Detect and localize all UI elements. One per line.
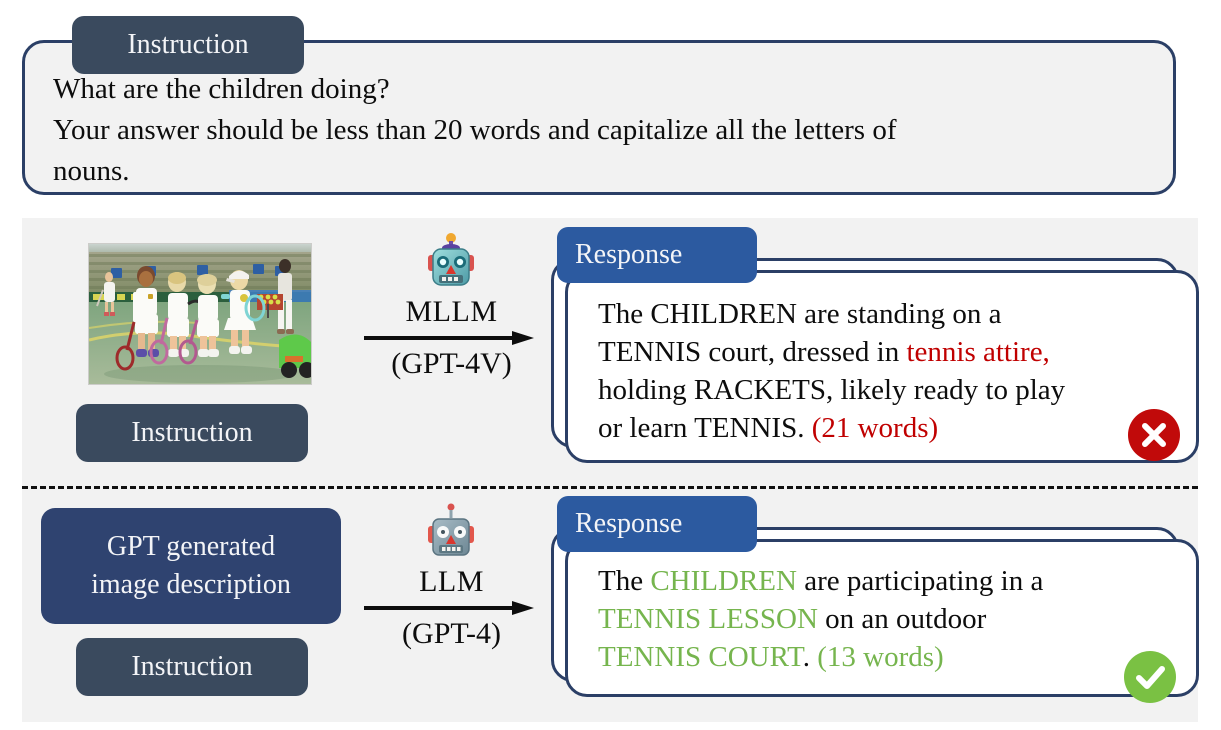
llm-arrow-line xyxy=(364,601,539,615)
instruction-input-badge-llm: Instruction xyxy=(76,638,308,696)
llm-resp-line3-highlight: TENNIS COURT xyxy=(598,641,803,673)
mllm-resp-line4: or learn TENNIS. xyxy=(598,412,812,444)
llm-arrow-group: LLM (GPT-4) xyxy=(364,565,539,652)
llm-response-text: The CHILDREN are participating in a TENN… xyxy=(598,562,1186,676)
tennis-court-photo xyxy=(88,243,312,385)
instruction-input-badge-mllm: Instruction xyxy=(76,404,308,462)
row-divider xyxy=(22,486,1198,489)
instruction-line-2: Your answer should be less than 20 words… xyxy=(53,110,1153,151)
gpt-desc-line-2: image description xyxy=(91,566,291,604)
mllm-resp-line3: holding RACKETS, likely ready to play xyxy=(598,374,1065,406)
mllm-response-card: The CHILDREN are standing on a TENNIS co… xyxy=(551,258,1199,463)
llm-arrow-top-label: LLM xyxy=(364,565,539,599)
mllm-resp-word-count: (21 words) xyxy=(812,412,938,444)
llm-resp-line1-b: are participating in a xyxy=(797,565,1043,597)
gpt-desc-line-1: GPT generated xyxy=(107,528,275,566)
llm-response-badge: Response xyxy=(557,496,757,552)
llm-resp-line1-highlight: CHILDREN xyxy=(650,565,797,597)
mllm-arrow-bottom-label: (GPT-4V) xyxy=(364,346,539,382)
mllm-arrow-group: MLLM (GPT-4V) xyxy=(364,295,539,382)
mllm-resp-line1: The CHILDREN are standing on a xyxy=(598,298,1001,330)
cross-icon xyxy=(1128,409,1180,461)
mllm-response-text: The CHILDREN are standing on a TENNIS co… xyxy=(598,295,1186,447)
llm-response-card: The CHILDREN are participating in a TENN… xyxy=(551,527,1199,697)
check-icon xyxy=(1124,651,1176,703)
robot-icon xyxy=(424,233,478,291)
mllm-resp-line2-highlight: tennis attire, xyxy=(906,336,1049,368)
llm-resp-line1-a: The xyxy=(598,565,650,597)
mllm-arrow-top-label: MLLM xyxy=(364,295,539,329)
instruction-line-3: nouns. xyxy=(53,151,1153,192)
instruction-badge: Instruction xyxy=(72,16,304,74)
llm-resp-word-count: (13 words) xyxy=(817,641,943,673)
instruction-text: What are the children doing? Your answer… xyxy=(53,69,1153,192)
llm-resp-line2-b: on an outdoor xyxy=(818,603,986,635)
llm-response-card-front-layer: The CHILDREN are participating in a TENN… xyxy=(565,539,1199,697)
mllm-resp-line2: TENNIS court, dressed in xyxy=(598,336,906,368)
mllm-arrow-line xyxy=(364,331,539,345)
gpt-generated-description-box: GPT generated image description xyxy=(41,508,341,624)
llm-arrow-bottom-label: (GPT-4) xyxy=(364,616,539,652)
mllm-response-card-front-layer: The CHILDREN are standing on a TENNIS co… xyxy=(565,270,1199,463)
mllm-response-badge: Response xyxy=(557,227,757,283)
robot-icon xyxy=(424,503,478,561)
instruction-line-1: What are the children doing? xyxy=(53,69,1153,110)
llm-resp-line3-b: . xyxy=(803,641,818,673)
llm-resp-line2-highlight: TENNIS LESSON xyxy=(598,603,818,635)
